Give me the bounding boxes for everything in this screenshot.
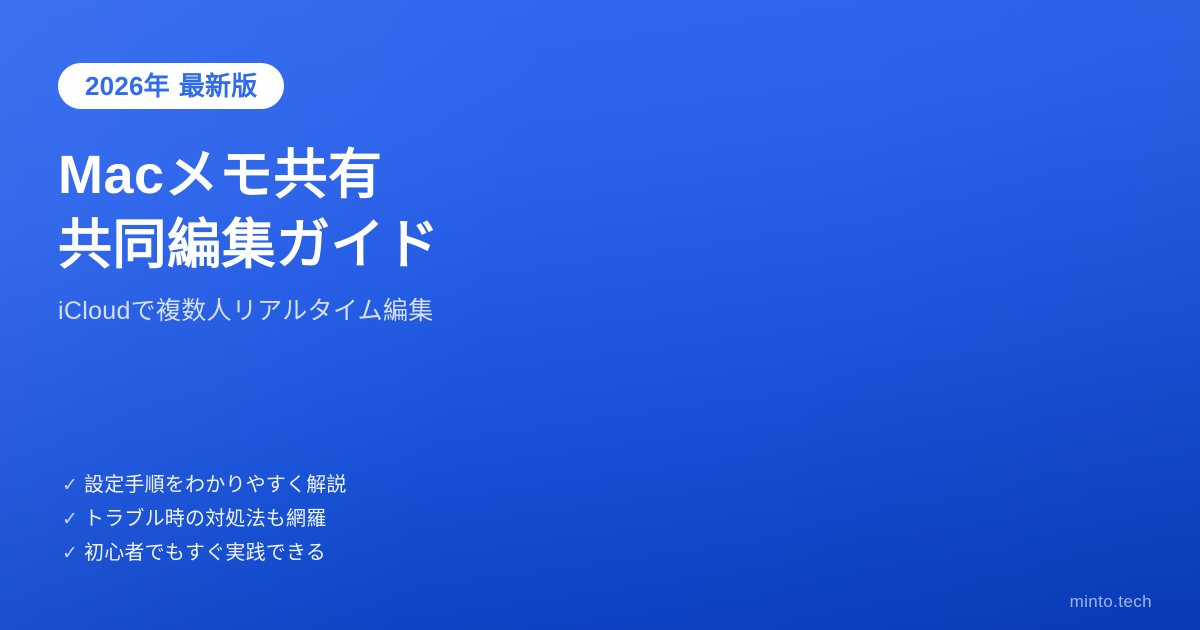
- badge-year: 2026年: [85, 73, 170, 99]
- check-item-label: トラブル時の対処法も網羅: [84, 509, 326, 529]
- card-content: 2026年 最新版 Macメモ共有 共同編集ガイド iCloudで複数人リアルタ…: [58, 0, 1152, 630]
- badge-label: 最新版: [179, 73, 258, 99]
- version-badge: 2026年 最新版: [58, 63, 284, 109]
- check-item-label: 初心者でもすぐ実践できる: [84, 543, 326, 563]
- check-icon: ✓: [62, 476, 84, 495]
- list-item: ✓ 設定手順をわかりやすく解説: [62, 468, 347, 502]
- list-item: ✓ 初心者でもすぐ実践できる: [62, 536, 347, 570]
- check-icon: ✓: [62, 544, 84, 563]
- page-title-line-1: Macメモ共有: [58, 140, 440, 210]
- check-item-label: 設定手順をわかりやすく解説: [84, 475, 347, 495]
- feature-checklist: ✓ 設定手順をわかりやすく解説 ✓ トラブル時の対処法も網羅 ✓ 初心者でもすぐ…: [62, 468, 347, 570]
- page-title-line-2: 共同編集ガイド: [58, 210, 440, 280]
- site-watermark: minto.tech: [1070, 593, 1152, 610]
- page-title: Macメモ共有 共同編集ガイド: [58, 140, 440, 280]
- check-icon: ✓: [62, 510, 84, 529]
- page-subtitle: iCloudで複数人リアルタイム編集: [58, 294, 434, 328]
- list-item: ✓ トラブル時の対処法も網羅: [62, 502, 347, 536]
- og-card: 2026年 最新版 Macメモ共有 共同編集ガイド iCloudで複数人リアルタ…: [0, 0, 1200, 630]
